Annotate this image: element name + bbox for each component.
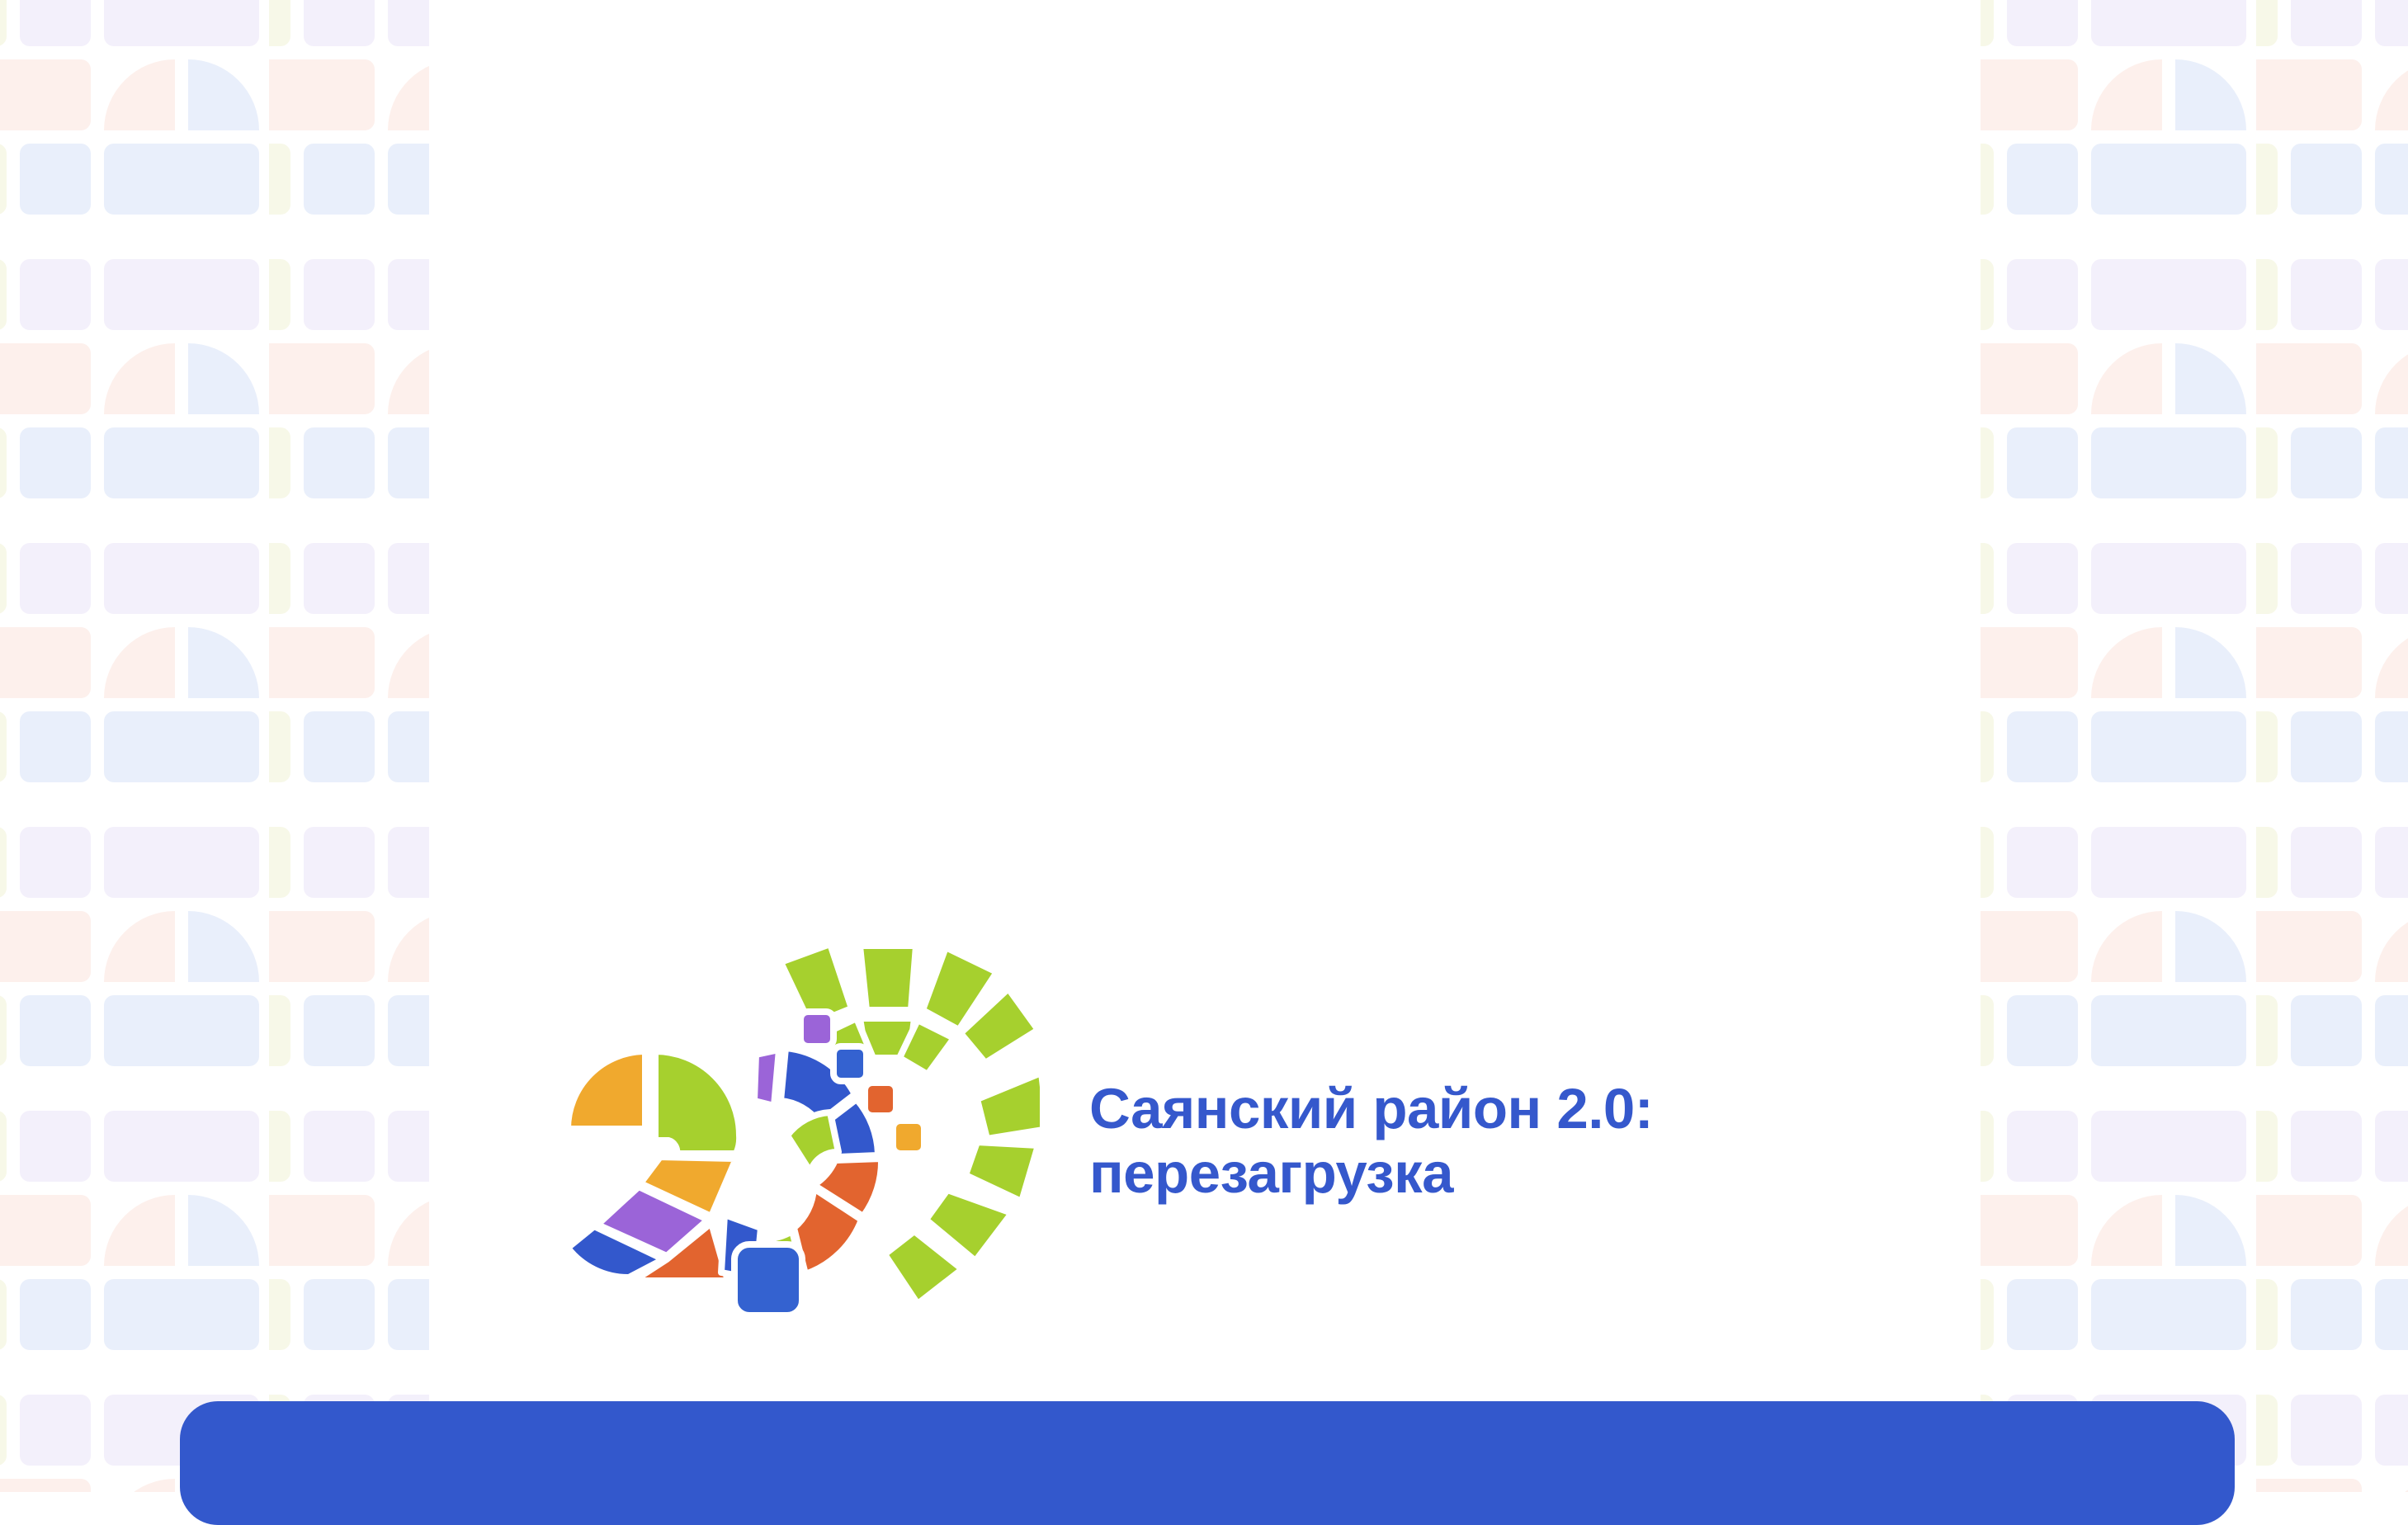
logo-color-banner xyxy=(545,941,1040,1370)
banner-title: Саянский район 2.0: перезагрузка xyxy=(1089,1077,1873,1206)
bottom-blue-bar xyxy=(180,1401,2235,1525)
banner-title-line2: перезагрузка xyxy=(1089,1141,1873,1206)
banner-title-line1: Саянский район 2.0: xyxy=(1089,1077,1873,1141)
